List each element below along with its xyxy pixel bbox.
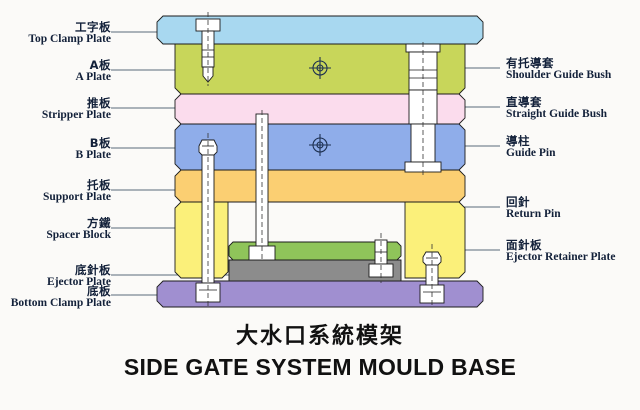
label-en: Stripper Plate bbox=[42, 110, 111, 122]
label-en: Shoulder Guide Bush bbox=[506, 70, 611, 82]
mould-base-diagram: 工字板 Top Clamp Plate A板 A Plate 推板 Stripp… bbox=[0, 0, 640, 410]
label-en: B Plate bbox=[76, 150, 111, 162]
label-en: Return Pin bbox=[506, 209, 561, 221]
label-en: Support Plate bbox=[43, 192, 111, 204]
label-spacer-block: 方鐵 Spacer Block bbox=[46, 218, 111, 242]
label-a-plate: A板 A Plate bbox=[76, 60, 111, 84]
label-straight-guide-bush: 直導套 Straight Guide Bush bbox=[506, 97, 607, 121]
title-en: SIDE GATE SYSTEM MOULD BASE bbox=[0, 354, 640, 381]
label-ejector-retainer-plate: 面針板 Ejector Retainer Plate bbox=[506, 240, 615, 264]
label-shoulder-guide-bush: 有托導套 Shoulder Guide Bush bbox=[506, 58, 611, 82]
label-return-pin: 回針 Return Pin bbox=[506, 197, 561, 221]
label-support-plate: 托板 Support Plate bbox=[43, 180, 111, 204]
label-en: Top Clamp Plate bbox=[28, 34, 111, 46]
label-en: Straight Guide Bush bbox=[506, 109, 607, 121]
label-en: A Plate bbox=[76, 72, 111, 84]
label-guide-pin: 導柱 Guide Pin bbox=[506, 136, 556, 160]
spacer-block-left bbox=[175, 202, 228, 278]
title-cn: 大水口系統模架 bbox=[0, 318, 640, 350]
label-stripper-plate: 推板 Stripper Plate bbox=[42, 98, 111, 122]
label-en: Ejector Retainer Plate bbox=[506, 252, 615, 264]
label-en: Guide Pin bbox=[506, 148, 556, 160]
plate-support bbox=[175, 170, 465, 202]
label-bottom-clamp-plate: 底板 Bottom Clamp Plate bbox=[11, 286, 111, 310]
label-top-clamp-plate: 工字板 Top Clamp Plate bbox=[28, 22, 111, 46]
label-en: Bottom Clamp Plate bbox=[11, 298, 111, 310]
label-b-plate: B板 B Plate bbox=[76, 138, 111, 162]
diagram-title: 大水口系統模架 SIDE GATE SYSTEM MOULD BASE bbox=[0, 318, 640, 381]
label-en: Spacer Block bbox=[46, 230, 111, 242]
